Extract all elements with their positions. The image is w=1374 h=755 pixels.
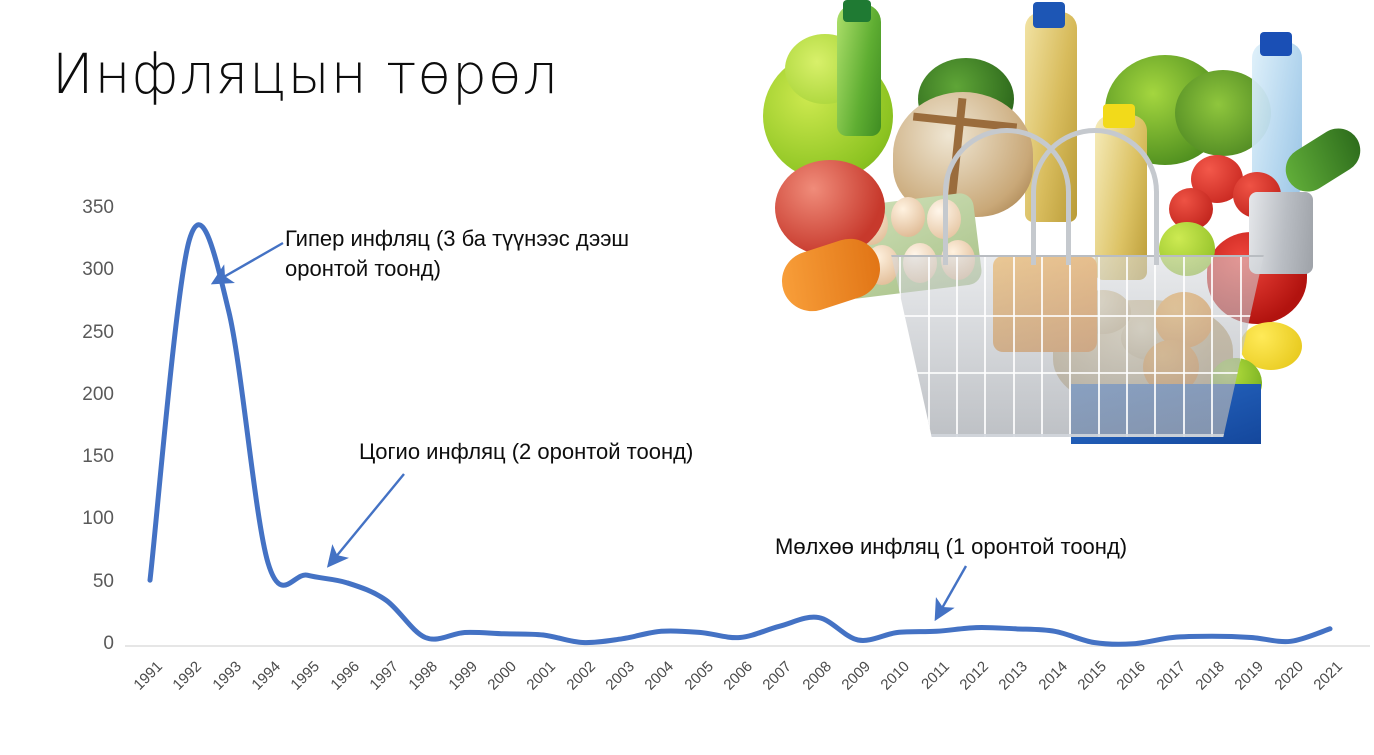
slide-canvas: Инфляцын төрөл: [0, 0, 1374, 755]
annotation-hyper-inflation: Гипер инфляц (3 ба түүнээс дээш оронтой …: [285, 224, 715, 283]
arrow-hyper: [215, 243, 283, 282]
annotation-galloping-inflation: Цогио инфляц (2 оронтой тоонд): [359, 437, 789, 467]
arrow-creeping: [937, 566, 966, 617]
inflation-series-line: [150, 225, 1330, 645]
annotation-creeping-inflation: Мөлхөө инфляц (1 оронтой тоонд): [775, 532, 1235, 562]
arrow-galloping: [330, 474, 404, 564]
inflation-line-chart: 050100150200250300350 199119921993199419…: [0, 0, 1374, 755]
chart-plot-area: [0, 0, 1374, 755]
